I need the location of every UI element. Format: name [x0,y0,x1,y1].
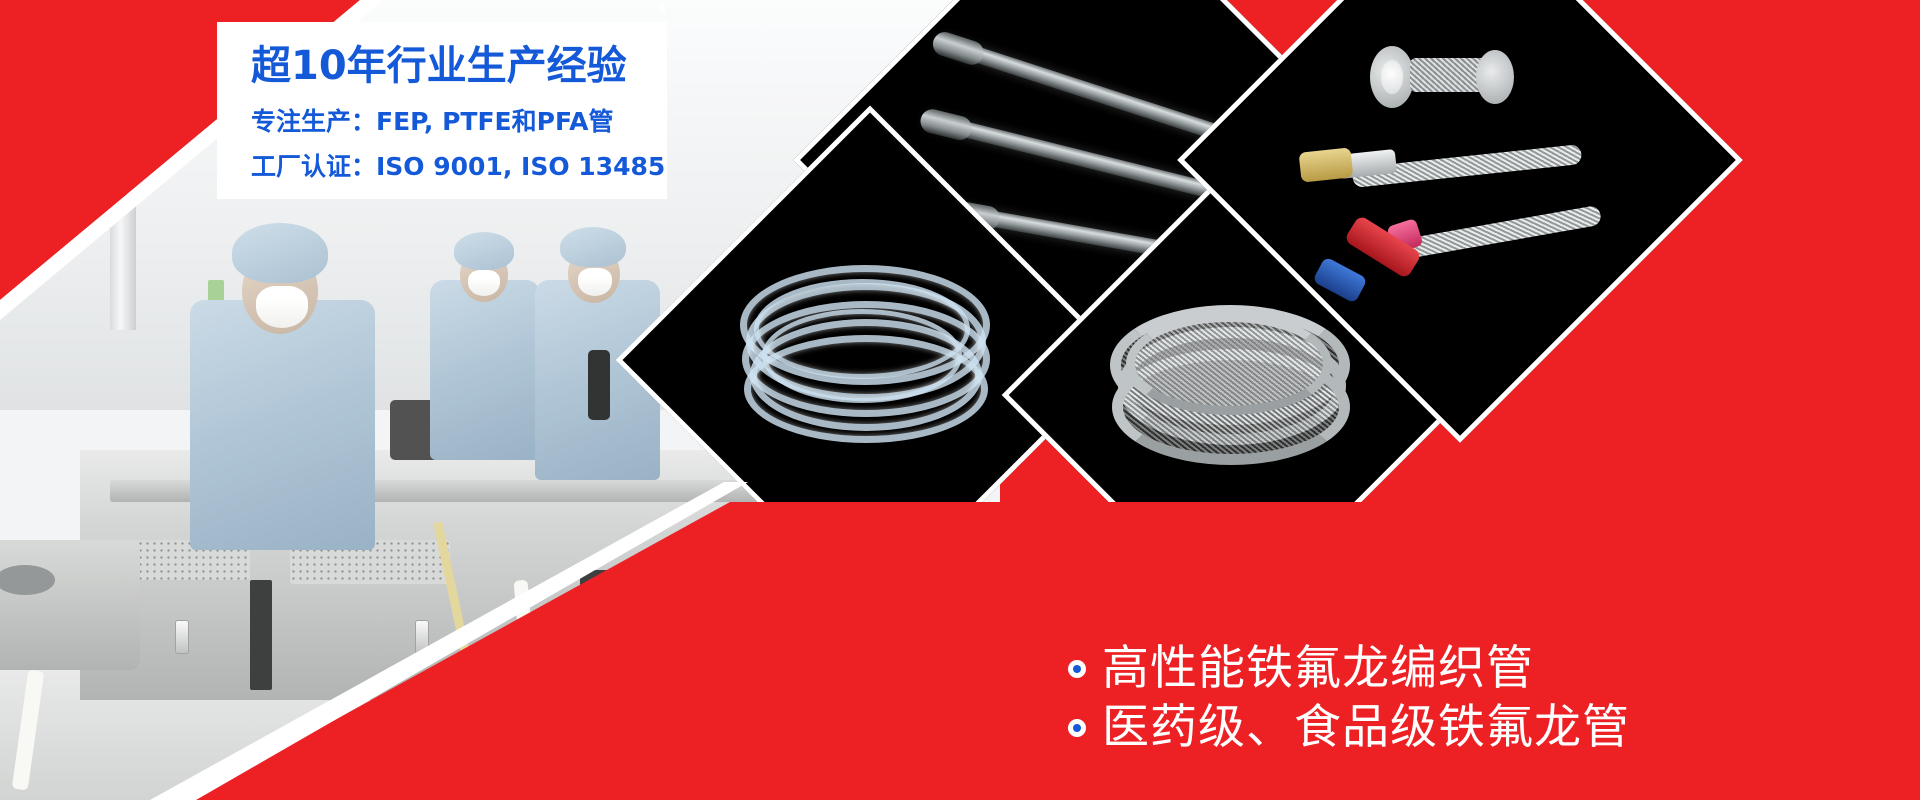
extruded-tube [12,669,45,790]
machine-latch [175,620,189,654]
bullet-dot-icon [1068,660,1086,678]
braided-hose-coil [1110,305,1360,485]
flanged-bellows [1370,46,1520,104]
certifications-line: 工厂认证：ISO 9001, ISO 13485 [251,153,667,182]
bullet-label: 医药级、食品级铁氟龙管 [1102,704,1630,751]
products-line: 专注生产：FEP, PTFE和PFA管 [251,108,667,137]
handheld-device [588,350,610,420]
promo-banner: 超10年行业生产经验 专注生产：FEP, PTFE和PFA管 工厂认证：ISO … [0,0,1920,800]
tubing-coil [740,265,1000,455]
machine-shadow [250,580,272,690]
info-card: 超10年行业生产经验 专注生产：FEP, PTFE和PFA管 工厂认证：ISO … [217,22,667,199]
list-item: 医药级、食品级铁氟龙管 [1068,704,1630,751]
blue-an-nut [1312,256,1368,303]
gold-banjo-fitting [1299,147,1354,182]
machine-head [0,540,140,670]
bullet-dot-icon [1068,719,1086,737]
braided-hose [1402,205,1602,259]
clear-coil-art [690,180,1050,540]
feature-bullet-list: 高性能铁氟龙编织管 医药级、食品级铁氟龙管 [1068,645,1630,751]
list-item: 高性能铁氟龙编织管 [1068,645,1630,692]
headline-text: 超10年行业生产经验 [251,44,667,88]
bullet-label: 高性能铁氟龙编织管 [1102,645,1534,692]
